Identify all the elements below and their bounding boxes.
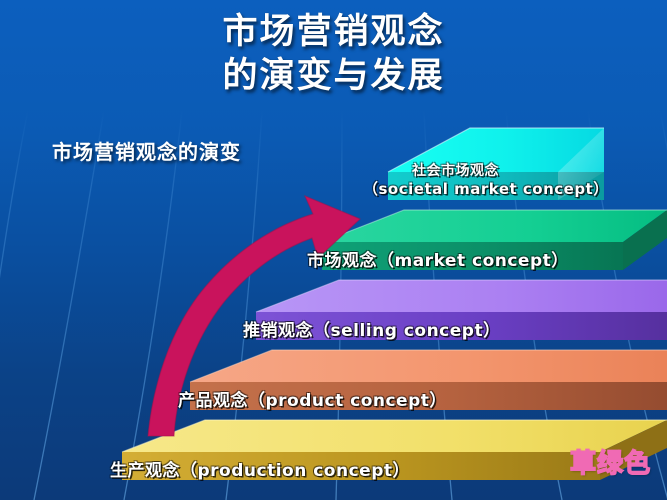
step-4-market-concept[interactable]: [322, 210, 667, 270]
slide-canvas: 市场营销观念 的演变与发展 市场营销观念的演变: [0, 0, 667, 500]
corner-note: 草绿色: [570, 443, 651, 480]
step-3-selling-concept[interactable]: [256, 280, 667, 340]
step-2-product-concept[interactable]: [190, 350, 667, 410]
evolution-staircase-diagram: [0, 0, 667, 500]
step-5-societal-market-concept[interactable]: [388, 128, 604, 200]
